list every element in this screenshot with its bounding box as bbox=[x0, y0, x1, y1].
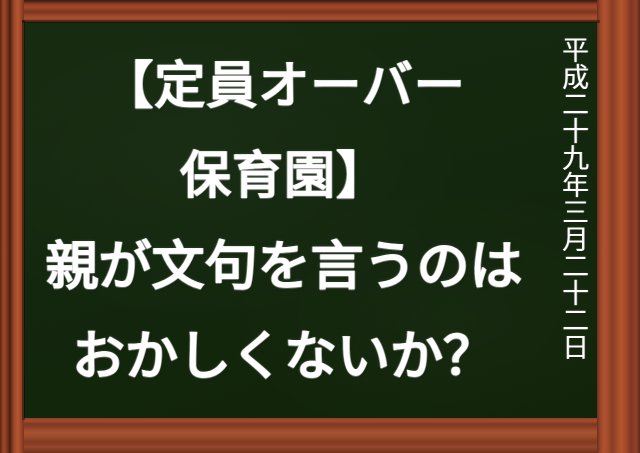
headline-line-2: 保育園】 bbox=[24, 132, 544, 222]
headline-text-block: 【定員オーバー 保育園】 親が文句を言うのは おかしくないか？ bbox=[24, 42, 544, 402]
headline-line-3: 親が文句を言うのは bbox=[24, 222, 544, 312]
date-vertical-text: 平成二十九年三月二十二日 bbox=[553, 36, 587, 360]
frame-inner-ridge-top bbox=[22, 20, 600, 23]
frame-left-stile bbox=[0, 0, 24, 453]
frame-bottom-rail bbox=[0, 418, 640, 453]
blackboard-scene: 【定員オーバー 保育園】 親が文句を言うのは おかしくないか？ 平成二十九年三月… bbox=[0, 0, 640, 453]
frame-inner-ridge-left bbox=[22, 20, 25, 420]
chalkboard-surface: 【定員オーバー 保育園】 親が文句を言うのは おかしくないか？ 平成二十九年三月… bbox=[24, 22, 597, 418]
headline-line-1: 【定員オーバー bbox=[24, 42, 544, 132]
headline-line-4: おかしくないか？ bbox=[24, 312, 544, 402]
frame-right-stile bbox=[597, 0, 640, 453]
